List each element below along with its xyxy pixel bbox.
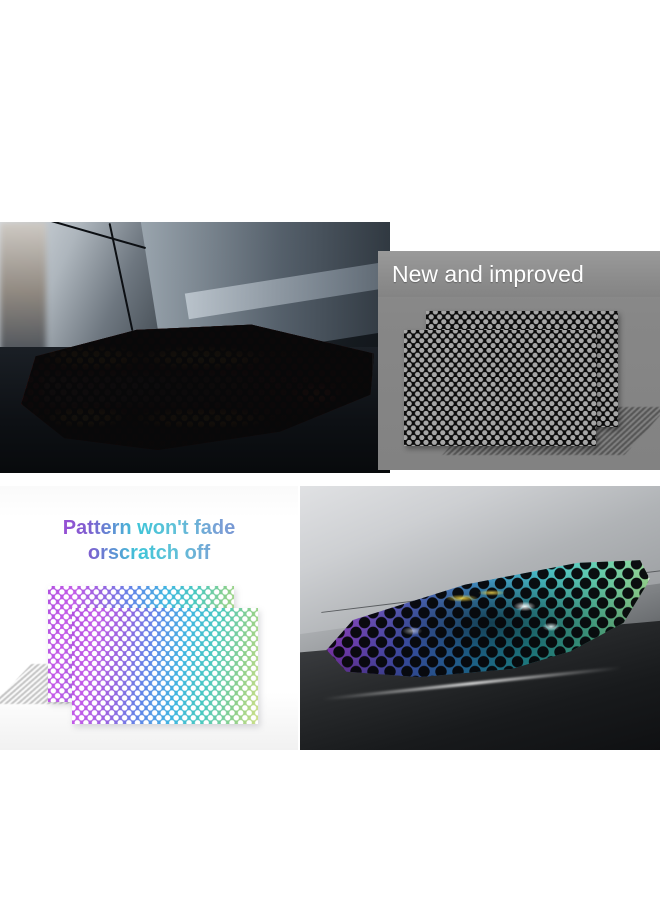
- pattern-wont-fade-label: Pattern won't fade orscratch off: [0, 516, 298, 566]
- new-and-improved-panel: New and improved: [378, 251, 660, 470]
- headlight-photo-panel: [300, 486, 660, 750]
- product-image-page: Using Effect Using Effect New and improv…: [0, 0, 660, 900]
- new-and-improved-header: New and improved: [378, 251, 660, 297]
- car-seam-line-2: [40, 222, 146, 249]
- black-sheet-front: [404, 330, 596, 446]
- page-title-block: Using Effect Using Effect: [0, 120, 660, 220]
- perforation-dots-front: [72, 608, 258, 724]
- new-and-improved-label: New and improved: [378, 261, 584, 288]
- pattern-wont-fade-panel: Pattern won't fade orscratch off: [0, 486, 298, 750]
- black-sheets-group: [378, 297, 660, 470]
- taillight-photo-panel: [0, 222, 390, 473]
- rainbow-sheets-group: [0, 582, 298, 750]
- rainbow-sheet-front: [72, 608, 258, 724]
